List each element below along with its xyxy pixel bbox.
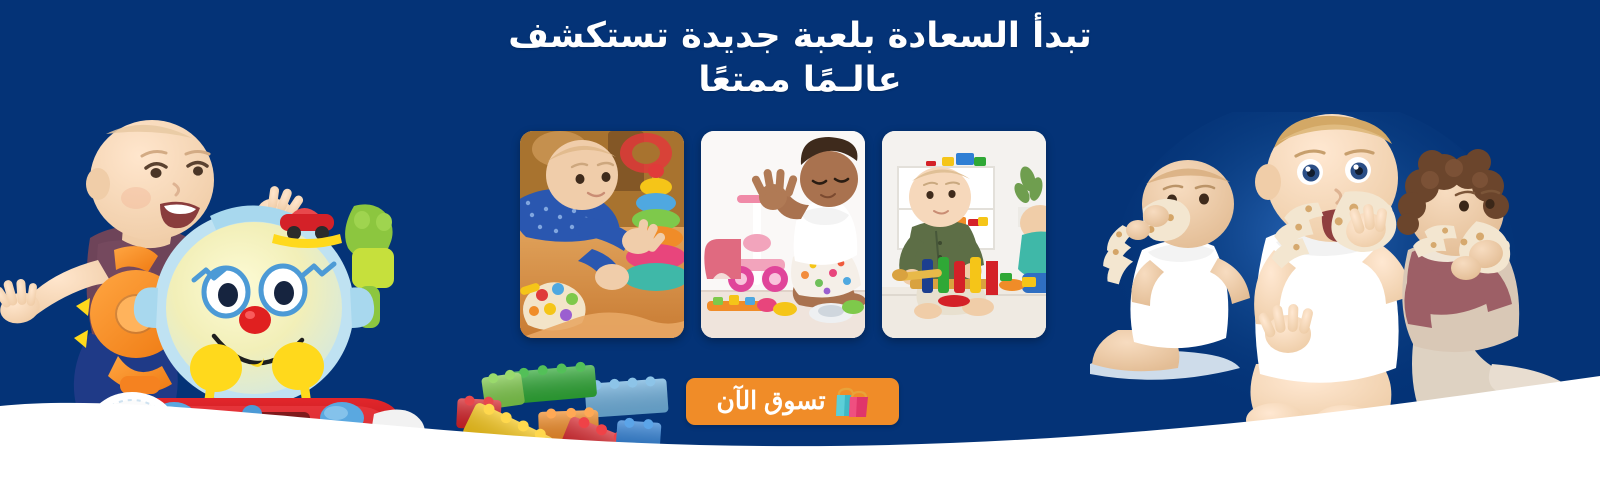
right-babies-illustration	[1090, 112, 1590, 472]
svg-text:DEMO: DEMO	[104, 422, 159, 440]
shop-now-button[interactable]: تسوق الآن	[686, 378, 899, 425]
headline-line-1: تبدأ السعادة بلعبة جديدة تستكشف	[0, 14, 1600, 60]
gallery-card-2[interactable]	[701, 131, 865, 338]
building-blocks-illustration	[432, 352, 672, 500]
product-image-gallery	[520, 131, 1046, 338]
promo-banner: DEMO	[0, 0, 1600, 500]
shop-now-label: تسوق الآن	[716, 389, 825, 414]
bath-toys-illustration	[1362, 398, 1592, 500]
gallery-card-3[interactable]	[520, 131, 684, 338]
page-title: تبدأ السعادة بلعبة جديدة تستكشف عالـمًا …	[0, 14, 1600, 103]
left-baby-illustration	[0, 118, 374, 418]
headline-line-2: عالـمًا ممتعًا	[0, 58, 1600, 104]
gallery-card-1[interactable]	[882, 131, 1046, 338]
shopping-bags-icon	[835, 385, 869, 418]
musical-toy-piano-illustration: DEMO	[74, 196, 434, 466]
